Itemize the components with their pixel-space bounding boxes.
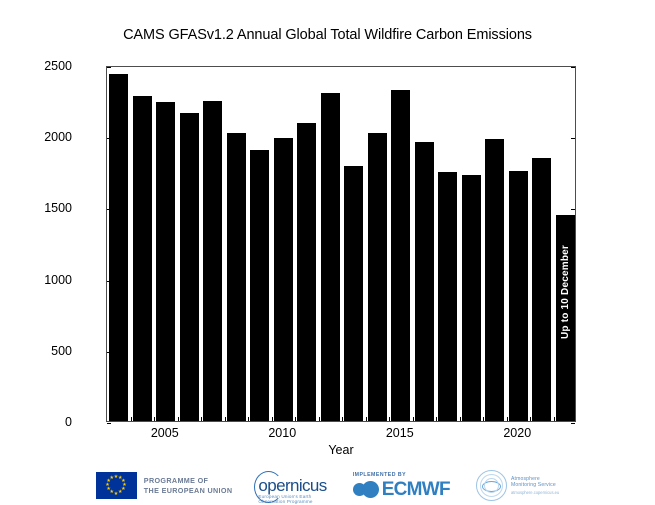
bar-annotation: Up to 10 December [560,245,571,339]
y-tick-right [571,138,575,139]
x-tick [366,417,367,421]
x-tick [272,417,273,421]
y-tick-label: 1000 [44,274,72,287]
bar-2009 [250,150,269,421]
ecmwf-implemented-by: IMPLEMENTED BY [353,472,406,478]
x-tick [295,417,296,421]
x-tick [248,417,249,421]
bar-2013 [344,166,363,421]
y-tick [107,423,111,424]
x-tick [530,417,531,421]
x-tick [436,417,437,421]
y-tick-right [571,67,575,68]
bar-2011 [297,123,316,421]
eu-caption-line1: PROGRAMME OF [144,476,233,486]
bars-layer: Up to 10 December [107,67,575,421]
cams-logo: Atmosphere Monitoring Service atmosphere… [476,470,559,501]
y-tick-right [571,209,575,210]
cams-ring [484,478,499,493]
y-tick-right [571,352,575,353]
x-tick-label: 2015 [370,427,430,440]
y-tick-label: 500 [51,345,72,358]
eu-logo: ★★★★★★★★★★★★ PROGRAMME OF THE EUROPEAN U… [96,472,233,499]
bar-2017 [438,172,457,421]
y-tick-label: 0 [65,416,72,429]
x-tick [413,417,414,421]
x-tick [389,417,390,421]
y-tick-right [571,423,575,424]
y-tick-label: 2500 [44,60,72,73]
x-tick-label: 2005 [135,427,195,440]
x-tick-label: 2010 [252,427,312,440]
y-tick-right [571,281,575,282]
eu-caption-line2: THE EUROPEAN UNION [144,486,233,496]
copernicus-wordmark: opernicus [258,476,326,496]
y-tick [107,281,111,282]
eu-star-icon: ★ [118,490,122,495]
x-tick [554,417,555,421]
eu-caption: PROGRAMME OF THE EUROPEAN UNION [144,476,233,495]
x-tick [201,417,202,421]
bar-2005 [156,102,175,421]
y-tick-label: 2000 [44,131,72,144]
x-tick [507,417,508,421]
copernicus-logo: opernicus European Union's Earth Observa… [258,476,326,496]
page-title: CAMS GFASv1.2 Annual Global Total Wildfi… [0,27,655,43]
bar-2014 [368,133,387,421]
x-tick [460,417,461,421]
y-tick [107,352,111,353]
plot-area: Up to 10 December [106,66,576,422]
y-tick-label: 1500 [44,202,72,215]
x-tick [319,417,320,421]
y-tick [107,67,111,68]
bar-2010 [274,138,293,421]
x-tick [342,417,343,421]
cams-globe-icon [476,470,507,501]
ecmwf-wordmark: ECMWF [382,480,450,499]
eu-star-icon: ★ [114,492,118,497]
x-tick-label: 2020 [487,427,547,440]
x-tick [154,417,155,421]
bar-2020 [509,171,528,421]
x-tick [131,417,132,421]
bar-2003 [109,74,128,421]
eu-star-icon: ★ [110,476,114,481]
ecmwf-blob [362,481,379,498]
footer-logos: ★★★★★★★★★★★★ PROGRAMME OF THE EUROPEAN U… [0,466,655,505]
eu-star-icon: ★ [105,483,109,488]
x-tick [178,417,179,421]
eu-star-icon: ★ [106,487,110,492]
x-axis-title: Year [106,443,576,457]
bar-2015 [391,90,410,421]
bar-2006 [180,113,199,421]
bar-2019 [485,139,504,421]
bar-2007 [203,101,222,421]
bar-2008 [227,133,246,421]
y-tick [107,209,111,210]
ecmwf-cloud-icon [353,481,379,498]
bar-2016 [415,142,434,421]
ecmwf-logo: IMPLEMENTED BY ECMWF [353,472,450,499]
bar-2004 [133,96,152,421]
eu-flag-icon: ★★★★★★★★★★★★ [96,472,137,499]
cams-url: atmosphere.copernicus.eu [511,490,559,495]
bar-2018 [462,175,481,421]
y-tick [107,138,111,139]
x-tick [225,417,226,421]
x-tick [483,417,484,421]
bar-2012 [321,93,340,421]
cams-line2: Monitoring Service [511,482,559,488]
bar-2021 [532,158,551,421]
